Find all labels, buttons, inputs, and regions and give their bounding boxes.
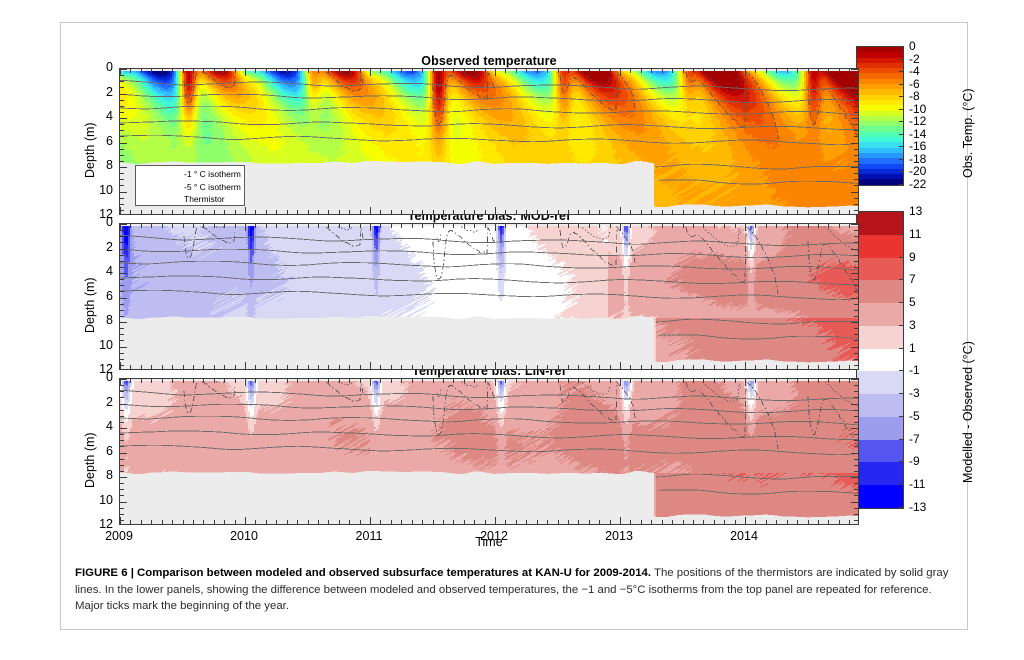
legend-label: -5 ° C isotherm <box>184 181 241 193</box>
y-tick-label: 10 <box>87 338 113 352</box>
colorbar-band <box>857 440 903 463</box>
y-tick-label: 8 <box>87 313 113 327</box>
colorbar-tick <box>899 370 904 371</box>
colorbar-tick <box>899 146 904 147</box>
colorbar-tick <box>899 84 904 85</box>
figure-page: Observed temperature Depth (m) Temperatu… <box>0 0 1024 660</box>
colorbar-tick <box>899 279 904 280</box>
colorbar-obs-temp <box>856 46 904 186</box>
colorbar-tick <box>899 348 904 349</box>
figure-caption: FIGURE 6 | Comparison between modeled an… <box>75 565 953 615</box>
colorbar-tick <box>899 393 904 394</box>
colorbar-tick-label: -22 <box>909 177 926 191</box>
x-tick-label: 2013 <box>596 529 642 543</box>
colorbar-tick-label: 9 <box>909 250 916 264</box>
colorbar-tick <box>899 59 904 60</box>
colorbar-band <box>857 235 903 258</box>
colorbar-tick-label: -11 <box>909 477 925 491</box>
colorbar-tick <box>899 121 904 122</box>
colorbar-tick <box>899 211 904 212</box>
colorbar-tick <box>899 109 904 110</box>
colorbar-band <box>857 303 903 326</box>
colorbar-band <box>857 326 903 349</box>
colorbar-tick-label: 7 <box>909 272 916 286</box>
y-tick-label: 2 <box>87 240 113 254</box>
colorbar-tick-label: 1 <box>909 341 916 355</box>
colorbar-bias <box>856 211 904 509</box>
colorbar-tick-label: -3 <box>909 386 920 400</box>
colorbar-tick <box>899 507 904 508</box>
figure-container: Observed temperature Depth (m) Temperatu… <box>61 23 967 558</box>
colorbar-tick-label: -13 <box>909 500 926 514</box>
colorbar-tick <box>899 171 904 172</box>
x-tick-label: 2011 <box>346 529 392 543</box>
colorbar-tick <box>899 46 904 47</box>
legend-item: -5 ° C isotherm <box>136 181 244 194</box>
y-tick-label: 2 <box>87 85 113 99</box>
colorbar-tick <box>899 184 904 185</box>
colorbar-band <box>857 258 903 281</box>
colorbar-tick <box>899 302 904 303</box>
x-tick-label: 2009 <box>96 529 142 543</box>
colorbar-band <box>857 349 903 372</box>
colorbar-tick-label: -1 <box>909 363 920 377</box>
isotherm-legend: -1 ° C isotherm-5 ° C isothermThermistor <box>135 165 245 206</box>
y-tick-label: 4 <box>87 109 113 123</box>
colorbar-tick <box>899 71 904 72</box>
y-tick-label: 8 <box>87 158 113 172</box>
y-tick-label: 6 <box>87 134 113 148</box>
colorbar-tick <box>899 325 904 326</box>
legend-label: Thermistor <box>184 193 225 205</box>
colorbar-tick-label: 11 <box>909 227 921 241</box>
x-tick-label: 2014 <box>721 529 767 543</box>
colorbar-band <box>857 179 903 184</box>
colorbar-tick <box>899 257 904 258</box>
colorbar-title-bias: Modelled - Observed (°C) <box>961 341 975 483</box>
colorbar-tick-label: 5 <box>909 295 916 309</box>
colorbar-band <box>857 212 903 235</box>
colorbar-tick <box>899 134 904 135</box>
colorbar-tick-label: -7 <box>909 432 920 446</box>
y-tick-label: 4 <box>87 419 113 433</box>
colorbar-tick <box>899 96 904 97</box>
y-tick-label: 10 <box>87 493 113 507</box>
y-tick-label: 0 <box>87 370 113 384</box>
colorbar-tick <box>899 159 904 160</box>
y-tick-label: 0 <box>87 215 113 229</box>
y-tick-label: 8 <box>87 468 113 482</box>
colorbar-band <box>857 280 903 303</box>
colorbar-tick-label: 13 <box>909 204 922 218</box>
colorbar-tick <box>899 484 904 485</box>
colorbar-title-obs-temp: Obs. Temp. (°C) <box>961 88 975 178</box>
article-frame: Observed temperature Depth (m) Temperatu… <box>60 22 968 630</box>
x-tick-label: 2010 <box>221 529 267 543</box>
caption-bold: FIGURE 6 | Comparison between modeled an… <box>75 567 651 579</box>
x-tick-label: 2012 <box>471 529 517 543</box>
y-tick-label: 2 <box>87 395 113 409</box>
colorbar-band <box>857 417 903 440</box>
colorbar-tick <box>899 461 904 462</box>
y-tick-label: 6 <box>87 444 113 458</box>
colorbar-band <box>857 462 903 485</box>
colorbar-tick <box>899 234 904 235</box>
y-tick-label: 0 <box>87 60 113 74</box>
colorbar-tick <box>899 439 904 440</box>
y-tick-label: 10 <box>87 183 113 197</box>
y-tick-label: 6 <box>87 289 113 303</box>
colorbar-band <box>857 485 903 508</box>
panel-bias-lin-ref <box>119 378 859 525</box>
panel-bias-mod-ref <box>119 223 859 370</box>
legend-item: Thermistor <box>136 193 244 206</box>
legend-label: -1 ° C isotherm <box>184 168 241 180</box>
y-tick-label: 4 <box>87 264 113 278</box>
colorbar-tick-label: 3 <box>909 318 916 332</box>
colorbar-band <box>857 394 903 417</box>
colorbar-band <box>857 371 903 394</box>
colorbar-tick <box>899 416 904 417</box>
legend-item: -1 ° C isotherm <box>136 168 244 181</box>
colorbar-tick-label: -9 <box>909 454 920 468</box>
panel-title-observed: Observed temperature <box>119 54 859 68</box>
colorbar-tick-label: -5 <box>909 409 920 423</box>
